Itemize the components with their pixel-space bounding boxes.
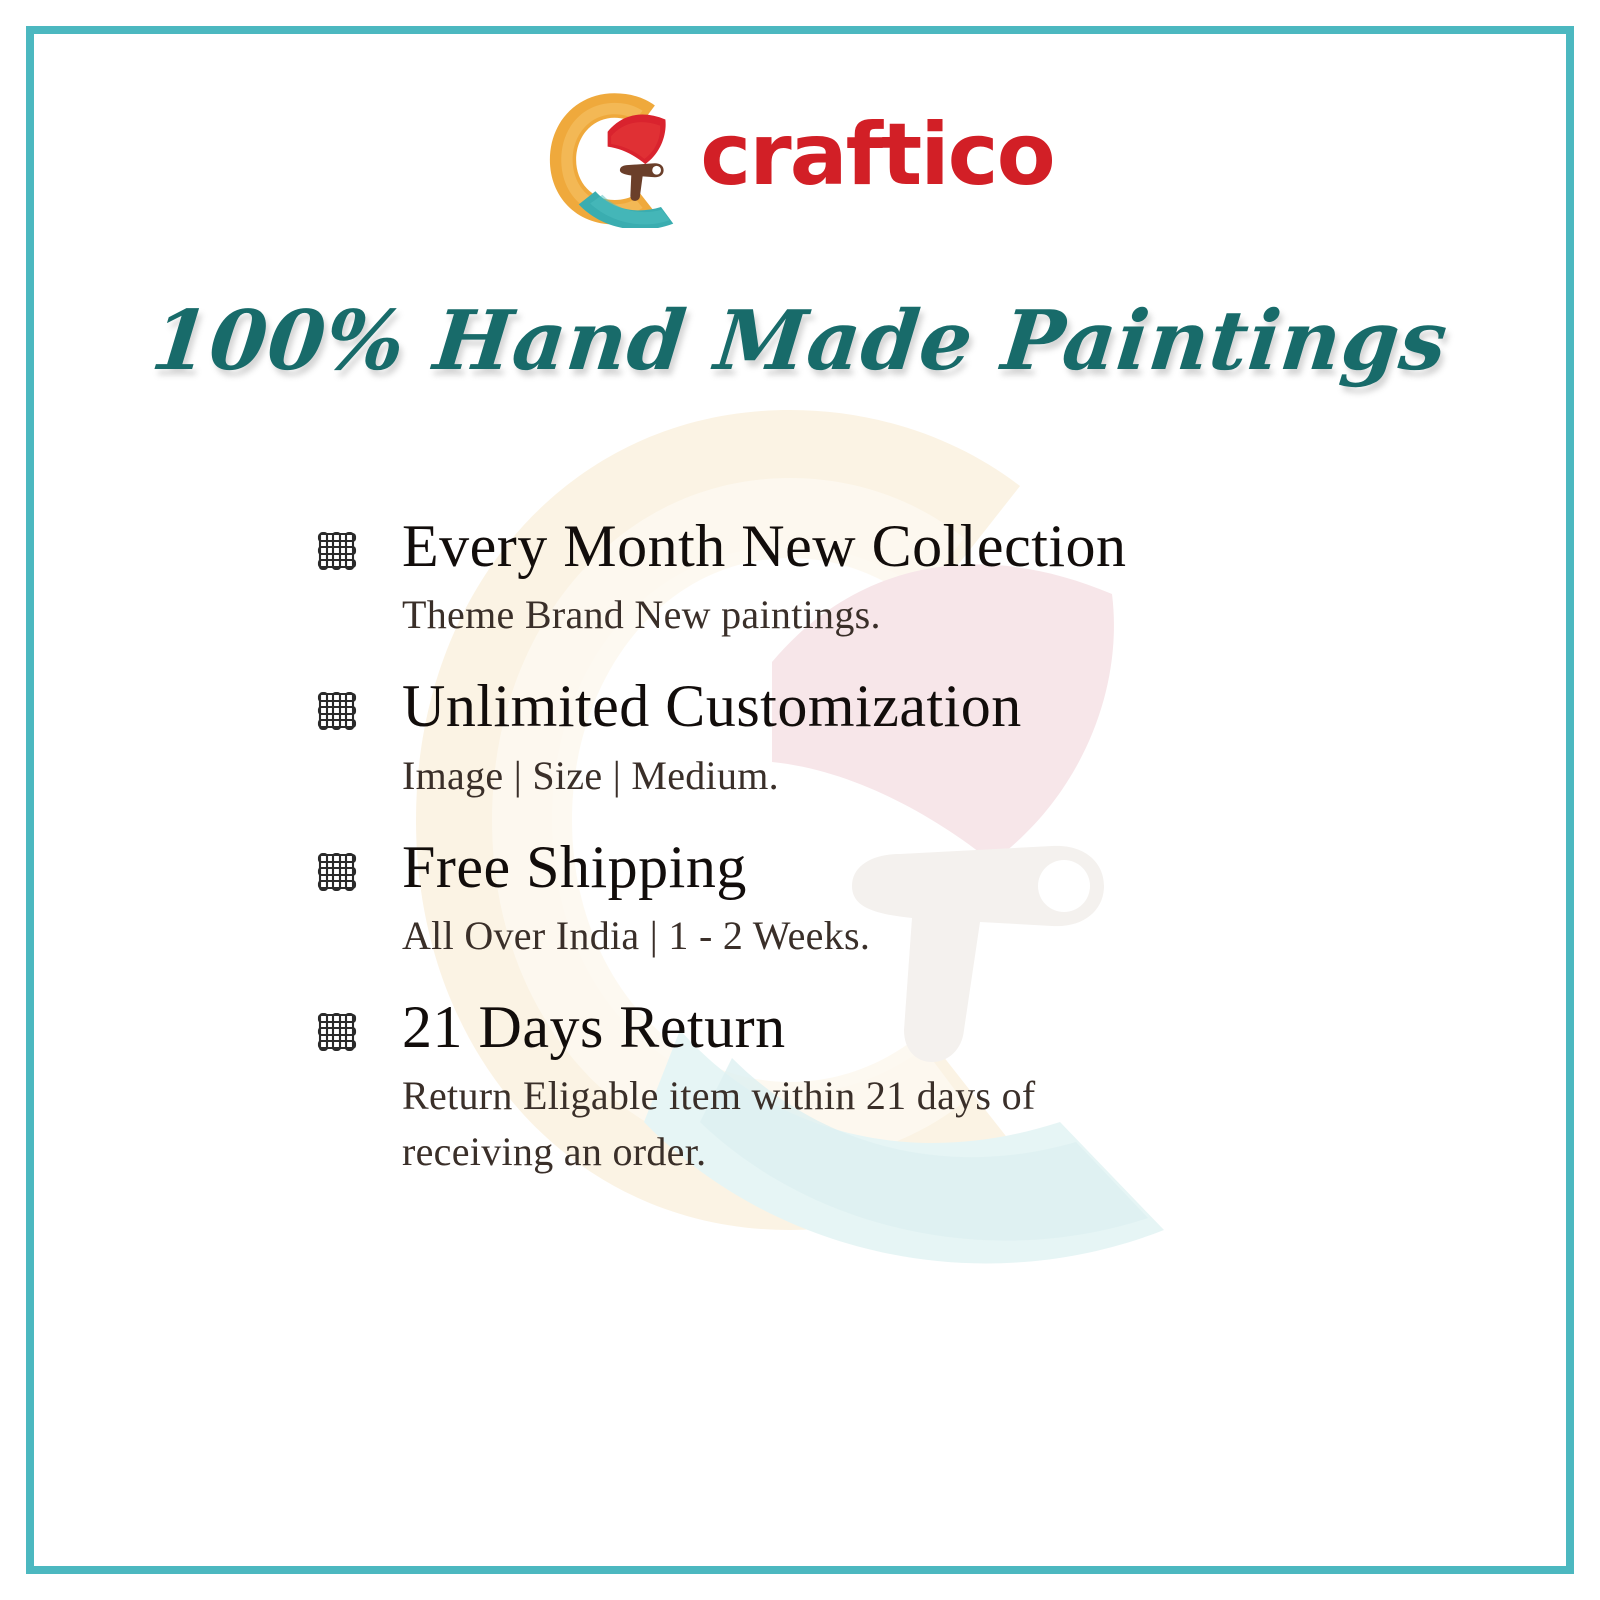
list-item-title: Unlimited Customization (402, 676, 1476, 737)
list-item: Free Shipping All Over India | 1 - 2 Wee… (316, 837, 1476, 963)
woven-fabric-icon (316, 530, 358, 572)
woven-fabric-icon (316, 1011, 358, 1053)
list-item-title: 21 Days Return (402, 997, 1476, 1058)
list-item-subtitle: Return Eligable item within 21 days of r… (402, 1068, 1162, 1178)
list-item-body: 21 Days Return Return Eligable item with… (402, 997, 1476, 1179)
list-item-subtitle: All Over India | 1 - 2 Weeks. (402, 908, 1162, 963)
page-title: 100% Hand Made Paintings (0, 296, 1600, 386)
feature-list: Every Month New Collection Theme Brand N… (316, 516, 1476, 1179)
woven-fabric-icon (316, 851, 358, 893)
page-title-text: 100% Hand Made Paintings (148, 296, 1453, 386)
promo-card: craftico 100% Hand Made Paintings (0, 0, 1600, 1600)
list-item-subtitle: Image | Size | Medium. (402, 748, 1162, 803)
list-item: Every Month New Collection Theme Brand N… (316, 516, 1476, 642)
list-item: Unlimited Customization Image | Size | M… (316, 676, 1476, 802)
woven-fabric-icon (316, 690, 358, 732)
brand-wordmark: craftico (700, 112, 1054, 204)
list-item-subtitle: Theme Brand New paintings. (402, 587, 1162, 642)
brand-logo-lockup: craftico (0, 88, 1600, 228)
list-item: 21 Days Return Return Eligable item with… (316, 997, 1476, 1179)
list-item-body: Every Month New Collection Theme Brand N… (402, 516, 1476, 642)
list-item-body: Unlimited Customization Image | Size | M… (402, 676, 1476, 802)
list-item-body: Free Shipping All Over India | 1 - 2 Wee… (402, 837, 1476, 963)
craftico-logo-icon (546, 88, 678, 228)
list-item-title: Every Month New Collection (402, 516, 1476, 577)
list-item-title: Free Shipping (402, 837, 1476, 898)
